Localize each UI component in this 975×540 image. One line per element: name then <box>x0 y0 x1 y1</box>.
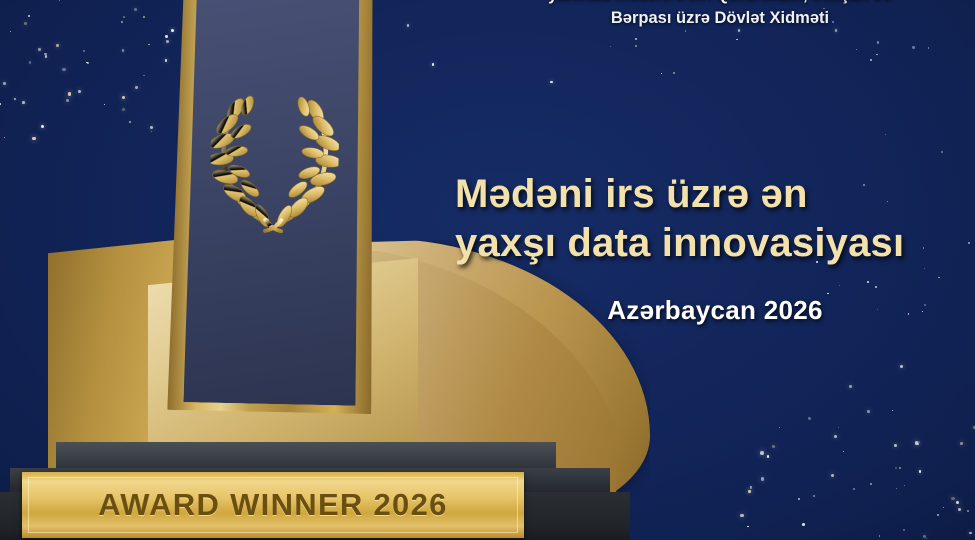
laurel-wreath-icon <box>209 93 340 236</box>
award-banner: AWARD WINNER 2026 yanında Mədəni İrsin Q… <box>0 0 975 540</box>
trophy-graphic: AWARD WINNER 2026 <box>0 0 700 540</box>
organization-name: yanında Mədəni İrsin Qorunması, İnkişafı… <box>470 0 970 30</box>
award-subtitle: Azərbaycan 2026 <box>455 295 975 326</box>
organization-line-2: Bərpası üzrə Dövlət Xidməti <box>470 7 970 30</box>
plaque-face <box>183 0 364 406</box>
organization-line-1: yanında Mədəni İrsin Qorunması, İnkişafı… <box>470 0 970 7</box>
headline-line-1: Mədəni irs üzrə ən <box>455 170 975 219</box>
headline-line-2: yaxşı data innovasiyası <box>455 219 975 268</box>
award-nameplate: AWARD WINNER 2026 <box>22 472 524 538</box>
award-nameplate-text: AWARD WINNER 2026 <box>98 487 447 523</box>
award-nameplate-inner: AWARD WINNER 2026 <box>28 477 518 533</box>
trophy-plaque <box>167 0 380 414</box>
award-headline: Mədəni irs üzrə ən yaxşı data innovasiya… <box>455 170 975 268</box>
